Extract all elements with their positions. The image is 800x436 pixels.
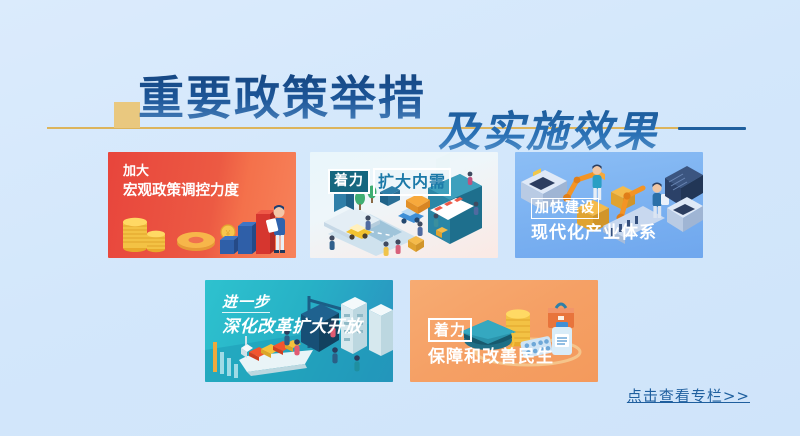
- card-domestic-demand-text: 着力扩大内需: [328, 168, 451, 196]
- blue-underline-accent: [678, 127, 746, 130]
- poster-title-block: 重要政策举措 及实施效果: [0, 28, 800, 128]
- card-livelihood-text: 着力 保障和改善民生: [428, 318, 554, 368]
- card-reform-opening[interactable]: 进一步 深化改革扩大开放: [205, 280, 393, 382]
- poster-background: 重要政策举措 及实施效果: [0, 0, 800, 436]
- card-domestic-demand-line1: 着力: [328, 169, 370, 194]
- view-column-link[interactable]: 点击查看专栏>>: [627, 385, 750, 406]
- card-reform-opening-line2: 深化改革扩大开放: [222, 317, 362, 338]
- card-macro-policy-line1: 加大: [123, 164, 239, 180]
- card-industrial-system[interactable]: 加快建设 现代化产业体系: [515, 152, 703, 258]
- card-macro-policy-line2: 宏观政策调控力度: [123, 183, 239, 201]
- card-macro-policy-text: 加大 宏观政策调控力度: [123, 164, 239, 201]
- title-line-2: 及实施效果: [438, 98, 658, 159]
- card-industrial-system-line1: 加快建设: [531, 198, 599, 219]
- card-domestic-demand[interactable]: 着力扩大内需: [310, 152, 498, 258]
- gold-square-accent: [114, 102, 140, 128]
- card-livelihood-line1-wrap: 着力: [428, 318, 554, 342]
- card-reform-opening-text: 进一步 深化改革扩大开放: [222, 292, 362, 338]
- card-livelihood[interactable]: 着力 保障和改善民生: [410, 280, 598, 382]
- card-reform-opening-line1: 进一步: [222, 293, 270, 313]
- card-livelihood-line1: 着力: [428, 318, 472, 342]
- card-industrial-system-text: 加快建设 现代化产业体系: [531, 198, 657, 244]
- card-macro-policy[interactable]: ¥: [108, 152, 296, 258]
- card-livelihood-line2: 保障和改善民生: [428, 347, 554, 368]
- title-line-1: 重要政策举措: [138, 62, 426, 128]
- card-domestic-demand-line2: 扩大内需: [373, 168, 451, 196]
- card-industrial-system-line2: 现代化产业体系: [531, 223, 657, 244]
